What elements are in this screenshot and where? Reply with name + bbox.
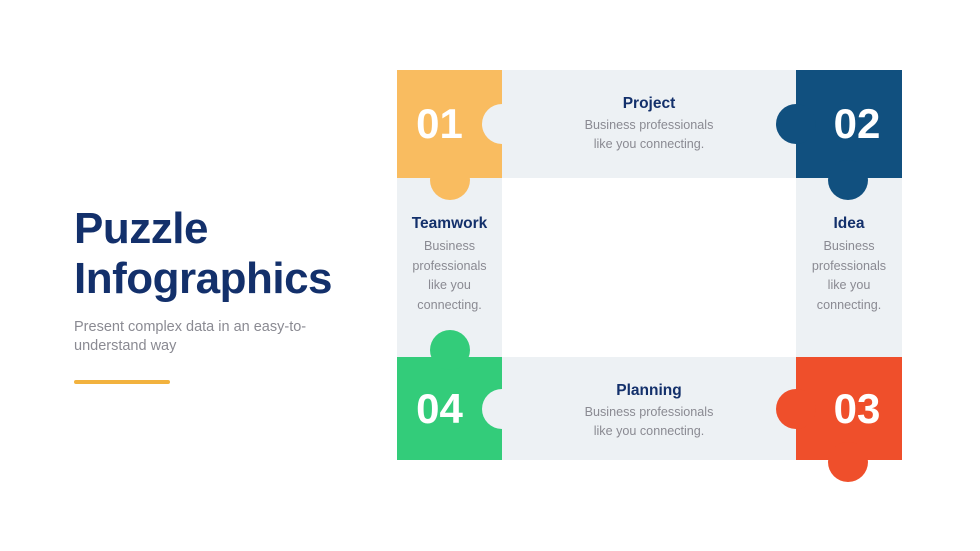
panel-left-text: Teamwork Business professionals like you… [397, 214, 502, 315]
panel-left-body-line-3: like you [405, 276, 494, 296]
panel-right-body-line-1: Business [804, 237, 894, 257]
accent-rule [74, 380, 170, 384]
puzzle-tile-01-knob-bottom [430, 160, 470, 200]
panel-top-heading: Project [510, 94, 788, 113]
page-title-line-2: Infographics [74, 254, 374, 304]
panel-right-body-line-4: connecting. [804, 296, 894, 316]
puzzle-board: Project Business professionals like you … [397, 70, 902, 460]
puzzle-tile-04-knob-top [430, 330, 470, 370]
puzzle-tile-04[interactable]: 04 [397, 357, 502, 460]
puzzle-tile-04-number: 04 [416, 388, 463, 430]
panel-left-body-line-1: Business [405, 237, 494, 257]
panel-left-body-line-2: professionals [405, 257, 494, 277]
page-subtitle: Present complex data in an easy-to-under… [74, 318, 320, 356]
page-title-line-1: Puzzle [74, 204, 374, 254]
panel-center-blank [502, 178, 796, 357]
puzzle-tile-04-notch-right [482, 389, 522, 429]
puzzle-tile-01-number: 01 [416, 103, 463, 145]
puzzle-tile-03-knob-left [776, 389, 816, 429]
panel-bottom: Planning Business professionals like you… [502, 357, 796, 460]
puzzle-tile-03[interactable]: 03 [796, 357, 902, 460]
panel-top: Project Business professionals like you … [502, 70, 796, 178]
puzzle-tile-02-knob-bottom [828, 160, 868, 200]
puzzle-tile-01[interactable]: 01 [397, 70, 502, 178]
panel-top-body-line-2: like you connecting. [510, 135, 788, 154]
panel-bottom-body-line-1: Business professionals [510, 403, 788, 422]
puzzle-tile-03-knob-bottom [828, 442, 868, 482]
slide-canvas: Puzzle Infographics Present complex data… [0, 0, 980, 551]
puzzle-tile-03-number: 03 [834, 388, 881, 430]
page-title: Puzzle Infographics [74, 204, 374, 304]
panel-right: Idea Business professionals like you con… [796, 178, 902, 357]
panel-right-body-line-2: professionals [804, 257, 894, 277]
headline-block: Puzzle Infographics Present complex data… [74, 204, 374, 384]
panel-left-body-line-4: connecting. [405, 296, 494, 316]
puzzle-tile-02[interactable]: 02 [796, 70, 902, 178]
panel-top-text: Project Business professionals like you … [502, 94, 796, 154]
puzzle-tile-02-number: 02 [834, 103, 881, 145]
panel-bottom-body-line-2: like you connecting. [510, 422, 788, 441]
panel-bottom-text: Planning Business professionals like you… [502, 381, 796, 441]
panel-right-text: Idea Business professionals like you con… [796, 214, 902, 315]
panel-bottom-heading: Planning [510, 381, 788, 400]
panel-right-body-line-3: like you [804, 276, 894, 296]
panel-top-body-line-1: Business professionals [510, 116, 788, 135]
panel-right-heading: Idea [804, 214, 894, 233]
panel-left-heading: Teamwork [405, 214, 494, 233]
puzzle-tile-01-notch-right [482, 104, 522, 144]
puzzle-tile-02-knob-left [776, 104, 816, 144]
